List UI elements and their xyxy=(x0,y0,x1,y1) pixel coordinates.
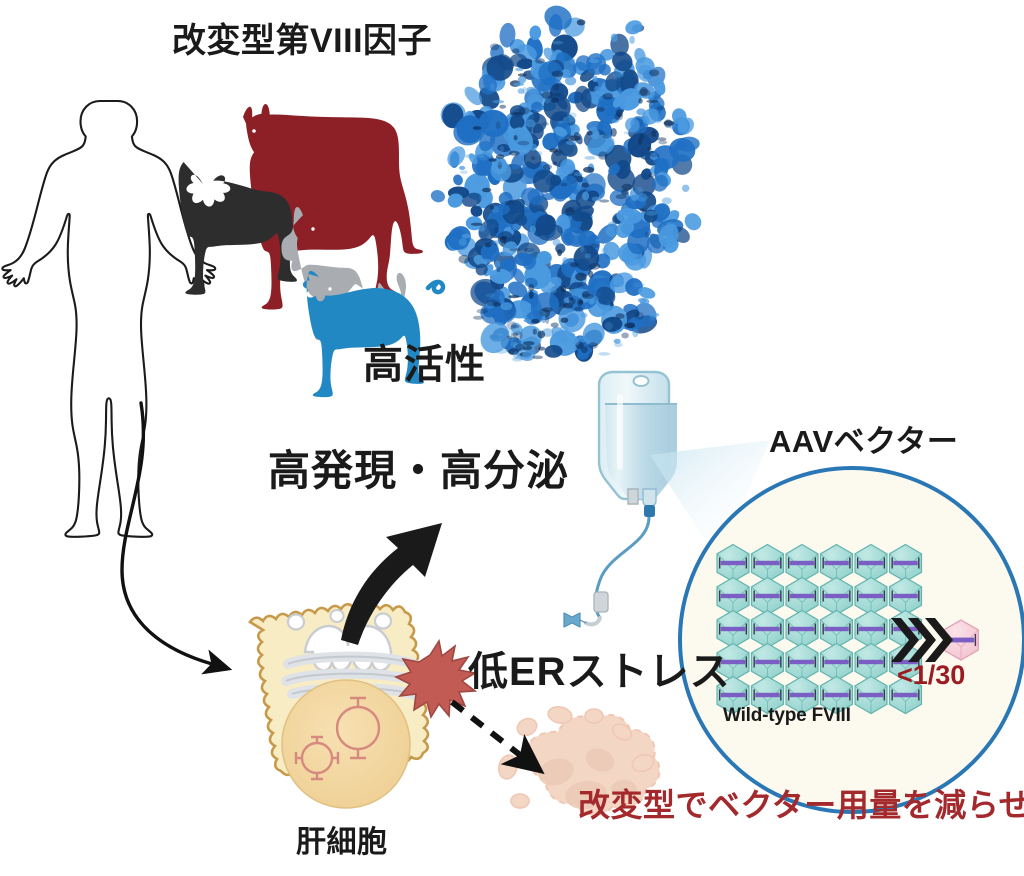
label-aav-vector: AAVベクター xyxy=(769,426,958,457)
page-title: 改変型第VIII因子 xyxy=(172,24,432,58)
dashed-arrow-icon xyxy=(452,702,520,755)
cell-nucleus-icon xyxy=(282,680,410,808)
label-high-expression-secretion: 高発現・高分泌 xyxy=(268,450,569,492)
label-conclusion: 改変型でベクター用量を減らせる xyxy=(578,789,1024,821)
protein-structure-icon xyxy=(429,2,705,366)
iv-drip-bag-icon xyxy=(564,372,677,627)
label-wild-type-fviii: Wild-type FVIII xyxy=(723,706,851,725)
label-dose-ratio: <1/30 xyxy=(897,662,965,689)
label-high-activity: 高活性 xyxy=(363,345,486,385)
hepatocyte-cell-icon xyxy=(250,604,475,808)
label-low-er-stress: 低ERストレス xyxy=(468,652,731,692)
label-hepatocyte: 肝細胞 xyxy=(296,828,388,858)
graphical-abstract-figure: 改変型第VIII因子 高活性 高発現・高分泌 低ERストレス AAVベクター 肝… xyxy=(0,0,1024,876)
